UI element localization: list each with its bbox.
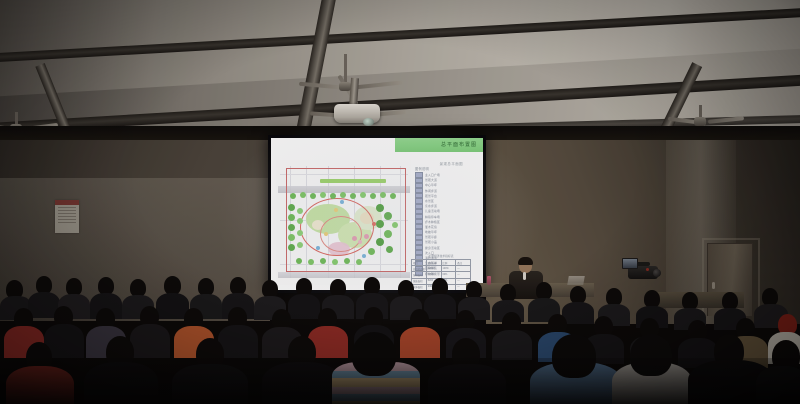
legend-label: 灌木花境: [425, 225, 437, 229]
legend-item: 休闲步道: [415, 189, 459, 193]
legend-item: 乔木种植区: [415, 220, 459, 224]
lecture-hall-photo: 总平面布置图 景观总平面图: [0, 0, 800, 404]
legend-label: 林荫停车场: [425, 215, 440, 219]
legend-item: 景观亭廊: [415, 235, 459, 239]
legend-label: 休闲步道: [425, 189, 437, 193]
legend-item: 儿童活动场: [415, 209, 459, 213]
legend-label: 亲水步道: [425, 204, 437, 208]
legend-item: 水景区: [415, 199, 459, 203]
legend-item: 林荫停车场: [415, 215, 459, 219]
legend-item: 健身活动区: [415, 246, 459, 250]
projector-icon: [334, 104, 380, 123]
legend-label: 主入口广场: [425, 173, 440, 177]
legend-label: 景观亭廊: [425, 235, 437, 239]
poster-header-band: [55, 200, 79, 205]
legend-item: 主入口广场: [415, 173, 459, 177]
legend-label: 观景平台: [425, 194, 437, 198]
legend-label: 健身活动区: [425, 246, 440, 250]
legend-header: 图例说明: [415, 166, 459, 171]
legend-label: 景观小品: [425, 240, 437, 244]
legend-item: 景观大道: [415, 178, 459, 182]
legend-item: 亲水步道: [415, 204, 459, 208]
legend-label: 地被草坪: [425, 230, 437, 234]
legend-item: 中心草坪: [415, 183, 459, 187]
slide-title: 总平面布置图: [441, 141, 477, 148]
legend-item: 灌木花境: [415, 225, 459, 229]
legend-label: 乔木种植区: [425, 220, 440, 224]
legend-item: 观景平台: [415, 194, 459, 198]
legend-label: 儿童活动场: [425, 209, 440, 213]
table-caption: 主要经济技术指标表: [411, 254, 471, 258]
audience: [0, 262, 800, 404]
ceiling: [0, 0, 800, 135]
legend-label: 景观大道: [425, 178, 437, 182]
legend-item: 景观小品: [415, 240, 459, 244]
legend-label: 水景区: [425, 199, 434, 203]
legend-item: 地被草坪: [415, 230, 459, 234]
legend-label: 中心草坪: [425, 183, 437, 187]
projector-lens: [363, 118, 374, 126]
wall-notice-poster: [55, 200, 79, 233]
